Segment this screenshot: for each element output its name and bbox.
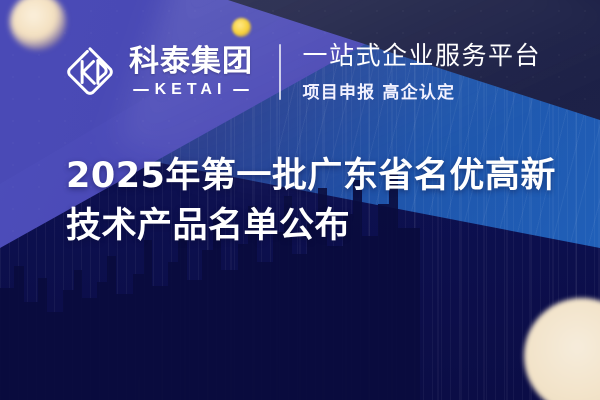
brand-logo[interactable]: 科泰集团 KETAI <box>62 44 253 100</box>
brand-name-en: KETAI <box>155 82 227 98</box>
page-title: 2025年第一批广东省名优高新技术产品名单公布 <box>66 152 560 251</box>
tagline-primary: 一站式企业服务平台 <box>303 42 542 71</box>
brand-wordmark: 科泰集团 KETAI <box>129 47 253 98</box>
brand-name-cn: 科泰集团 <box>129 47 253 77</box>
vertical-divider <box>279 44 281 100</box>
gold-glow-dot <box>232 18 251 37</box>
wordmark-left-bar <box>133 89 149 92</box>
brand-name-en-row: KETAI <box>133 82 250 98</box>
banner-header: 科泰集团 KETAI 一站式企业服务平台 项目申报 高企认定 <box>62 42 541 103</box>
tagline-block: 一站式企业服务平台 项目申报 高企认定 <box>303 42 542 103</box>
tagline-secondary: 项目申报 高企认定 <box>303 78 542 103</box>
wordmark-right-bar <box>233 89 249 92</box>
promo-banner: 科泰集团 KETAI 一站式企业服务平台 项目申报 高企认定 2025年第一批广… <box>0 0 600 400</box>
ketai-diamond-monogram-icon <box>62 44 118 100</box>
